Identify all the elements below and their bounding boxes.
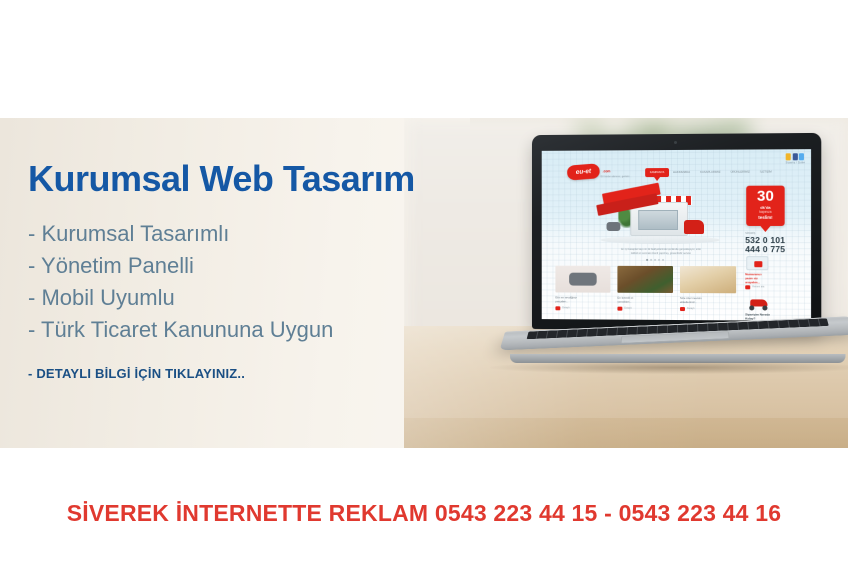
arrow-icon (617, 306, 622, 310)
carousel-dot[interactable] (654, 259, 656, 261)
advertisement-banner: Sipariş / Şube eu-et .com Et'i bizden al… (0, 0, 848, 566)
site-logo[interactable]: eu-et (567, 163, 600, 180)
meat-plate-image (680, 266, 736, 293)
social-icons-group[interactable] (786, 153, 804, 160)
arrow-icon (555, 306, 560, 310)
carousel-dot[interactable] (650, 259, 652, 261)
laptop-lid: Sipariş / Şube eu-et .com Et'i bizden al… (532, 133, 821, 331)
carousel-dot[interactable] (646, 259, 648, 261)
feature-item: - Türk Ticaret Kanununa Uygun (28, 314, 488, 346)
page-title: Kurumsal Web Tasarım (28, 160, 488, 198)
promo-badge: 30 dk'da kapınıza teslim! (746, 186, 784, 226)
facebook-icon[interactable] (792, 153, 797, 160)
promo-number: 30 (746, 189, 784, 204)
cow-silhouette-image (555, 266, 610, 293)
carousel-dot[interactable] (662, 259, 664, 261)
product-card-title-2: parçaları... (555, 299, 610, 303)
scooter-wheel-rear (762, 305, 767, 310)
product-card-button[interactable]: Detaylı (680, 307, 736, 311)
feature-item: - Kurumsal Tasarımlı (28, 218, 488, 250)
product-card[interactable]: Etin en sevdiğiniz parçaları... Detaylı (555, 266, 610, 310)
feature-item: - Mobil Uyumlu (28, 282, 488, 314)
nav-item-contact[interactable]: İLETİŞİM (760, 170, 772, 174)
illustration-ground (601, 236, 720, 244)
scooter-wheel-front (749, 305, 754, 310)
site-logo-text: eu-et (567, 167, 600, 176)
nav-campaign-label: KAMPANYA (645, 171, 669, 174)
hero-caption-line1: En iyi kasaplar kapı ön iki faaliyetleri… (610, 248, 712, 251)
promo-line-3: teslim! (746, 215, 784, 220)
product-card-button[interactable]: Detaylı (617, 306, 673, 310)
laptop-display: Sipariş / Şube eu-et .com Et'i bizden al… (542, 149, 811, 321)
product-card[interactable]: Size özel mevsim etiketlerimiz... Detayl… (680, 266, 736, 311)
grilled-meat-image (617, 266, 673, 293)
nav-item-butchers[interactable]: KASAPLARIMIZ (700, 170, 720, 174)
site-logo-tagline: Et'i bizden alırsınız, gerisini... (601, 175, 632, 178)
phone-number-2: 444 0 775 (745, 244, 785, 254)
laptop-drop-shadow (490, 361, 848, 374)
twitter-icon[interactable] (799, 153, 804, 160)
callback-text-3: arayalım... (745, 280, 760, 284)
footer-contact-text: SİVEREK İNTERNETTE REKLAM 0543 223 44 15… (67, 500, 782, 526)
callback-button-label: Hemen ara (752, 285, 764, 288)
footer-strip: SİVEREK İNTERNETTE REKLAM 0543 223 44 15… (0, 500, 848, 527)
nav-item-products[interactable]: ÜRÜNLERİMİZ (731, 170, 750, 174)
feature-item: - Yönetim Panelli (28, 250, 488, 282)
top-white-band (0, 0, 848, 118)
callback-button[interactable] (745, 285, 750, 289)
social-caption: Sipariş / Şube (786, 161, 805, 164)
carousel-dot[interactable] (658, 259, 660, 261)
carousel-dots[interactable] (646, 259, 664, 261)
banner-copy: Kurumsal Web Tasarım - Kurumsal Tasarıml… (28, 160, 488, 381)
website-screenshot: Sipariş / Şube eu-et .com Et'i bizden al… (542, 149, 811, 321)
arrow-icon (680, 307, 685, 311)
delivery-scooter-illustration (684, 220, 704, 234)
product-card-button-label: Detaylı (624, 307, 631, 310)
product-card-button-label: Detaylı (562, 306, 569, 309)
rss-icon[interactable] (786, 153, 791, 160)
hero-illustration (601, 186, 720, 244)
product-card-title-2: etiketlerimiz... (680, 300, 736, 304)
nav-item-about[interactable]: HAKKIMIZDA (673, 170, 690, 174)
scooter-icon (748, 296, 772, 310)
feature-list: - Kurumsal Tasarımlı - Yönetim Panelli -… (28, 218, 488, 346)
cow-illustration (607, 222, 621, 231)
product-card[interactable]: En lezzetli et yemekleri... Detaylı (617, 266, 673, 311)
product-cards: Etin en sevdiğiniz parçaları... Detaylı … (555, 266, 736, 311)
nav-campaign-button[interactable]: KAMPANYA (645, 168, 669, 177)
product-card-title-2: yemekleri... (617, 299, 673, 303)
webcam-icon (674, 141, 677, 144)
site-navigation[interactable]: HAKKIMIZDA KASAPLARIMIZ ÜRÜNLERİMİZ İLET… (673, 170, 772, 174)
cta-link[interactable]: - DETAYLI BİLGİ İÇİN TIKLAYINIZ.. (28, 366, 488, 381)
callback-icon (746, 256, 768, 270)
shop-window (638, 210, 678, 230)
promo-line-2: kapınıza (746, 210, 784, 214)
hero-caption-line2: kaliteli et sunmak özenli yapılmış, güve… (610, 252, 712, 255)
site-logo-domain: .com (603, 169, 611, 173)
product-card-button[interactable]: Detaylı (555, 306, 610, 310)
product-card-button-label: Detaylı (687, 307, 694, 310)
